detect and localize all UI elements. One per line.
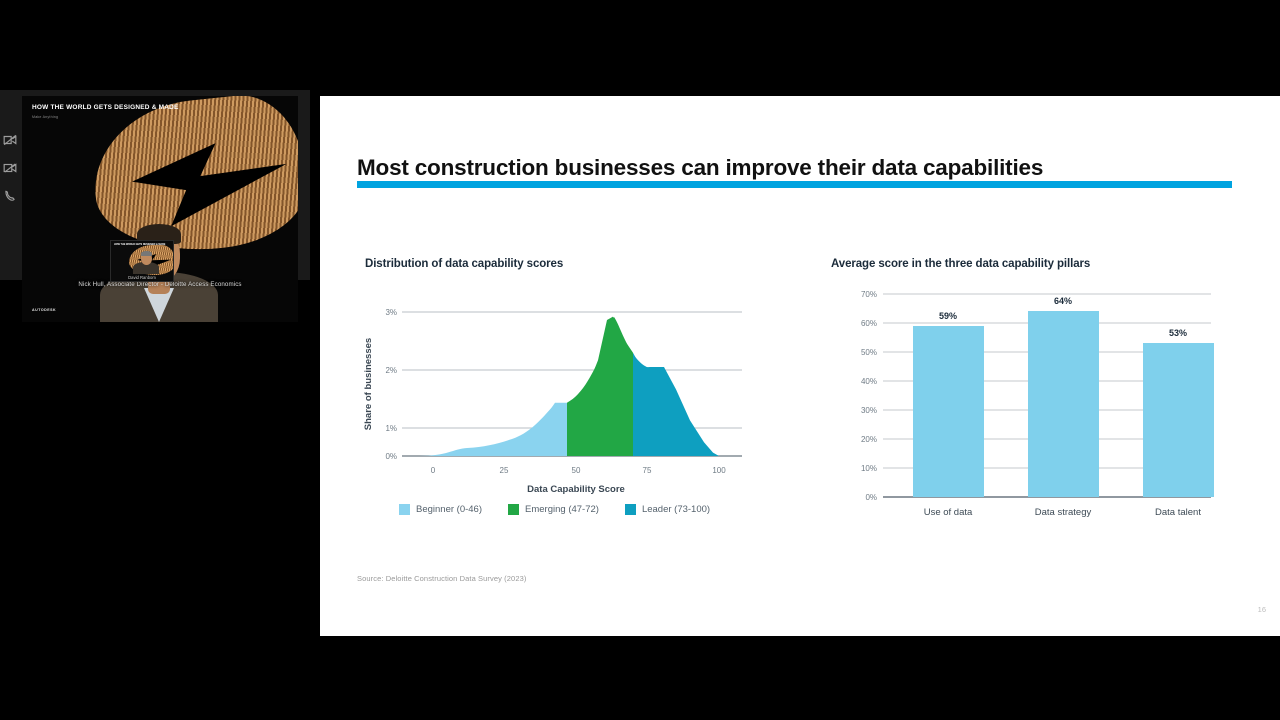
thumbnail-kicker: HOW THE WORLD GETS DESIGNED & MADE xyxy=(114,243,165,246)
left-chart-plot: 3% 2% 1% 0% Share of businesses 0 xyxy=(357,284,757,500)
y-tick-0: 0% xyxy=(865,493,877,502)
autodesk-logo: AUTODESK xyxy=(32,308,56,312)
legend-swatch-beginner xyxy=(399,504,410,515)
value-label-data-strategy: 64% xyxy=(1054,296,1072,306)
x-tick-75: 75 xyxy=(643,466,652,475)
participant-thumbnail[interactable]: HOW THE WORLD GETS DESIGNED & MADE David… xyxy=(110,240,174,282)
right-chart-category-labels: Use of data Data strategy Data talent xyxy=(924,507,1202,518)
left-chart-x-axis-title: Data Capability Score xyxy=(527,484,625,495)
bar-use-of-data[interactable] xyxy=(913,326,984,497)
left-chart-title: Distribution of data capability scores xyxy=(365,258,563,270)
y-tick-2: 2% xyxy=(385,366,397,375)
left-chart-y-ticks: 3% 2% 1% 0% xyxy=(385,308,397,461)
left-chart-legend: Beginner (0-46) Emerging (47-72) Leader … xyxy=(399,504,710,515)
y-tick-40: 40% xyxy=(861,377,877,386)
legend-item-emerging[interactable]: Emerging (47-72) xyxy=(508,504,599,515)
y-tick-3: 3% xyxy=(385,308,397,317)
right-chart-bars xyxy=(913,311,1214,497)
right-chart-plot: 70% 60% 50% 40% 30% 20% 10% 0% 59% 64% 5… xyxy=(825,284,1225,524)
left-chart-y-axis-title: Share of businesses xyxy=(363,338,374,430)
legend-label-emerging: Emerging (47-72) xyxy=(525,504,599,515)
shared-screen-video[interactable]: HOW THE WORLD GETS DESIGNED & MADE Make … xyxy=(22,96,298,322)
chart-distribution-of-data-capability-scores: Distribution of data capability scores 3… xyxy=(357,258,757,538)
speaker-name-caption: Nick Hull, Associate Director - Deloitte… xyxy=(22,281,298,288)
video-conference-panel: HOW THE WORLD GETS DESIGNED & MADE Make … xyxy=(0,90,310,280)
video-off-icon[interactable] xyxy=(3,161,17,175)
y-tick-30: 30% xyxy=(861,406,877,415)
heading-accent-rule xyxy=(357,181,1232,188)
legend-label-beginner: Beginner (0-46) xyxy=(416,504,482,515)
y-tick-60: 60% xyxy=(861,319,877,328)
source-note: Source: Deloitte Construction Data Surve… xyxy=(357,574,526,583)
bar-data-talent[interactable] xyxy=(1143,343,1214,497)
right-chart-y-ticks: 70% 60% 50% 40% 30% 20% 10% 0% xyxy=(861,290,877,502)
x-tick-50: 50 xyxy=(572,466,581,475)
shared-slide-title-block: HOW THE WORLD GETS DESIGNED & MADE Make … xyxy=(32,104,179,119)
value-label-data-talent: 53% xyxy=(1169,328,1187,338)
legend-label-leader: Leader (73-100) xyxy=(642,504,710,515)
thumbnail-name-caption: David Ranbom xyxy=(111,275,173,280)
shared-slide-kicker: HOW THE WORLD GETS DESIGNED & MADE xyxy=(32,104,179,112)
y-tick-70: 70% xyxy=(861,290,877,299)
camera-off-icon[interactable] xyxy=(3,133,17,147)
value-label-use-of-data: 59% xyxy=(939,311,957,321)
call-controls-toolbar xyxy=(0,125,20,253)
page-title: Most construction businesses can improve… xyxy=(357,155,1043,181)
shared-slide-subtitle: Make Anything xyxy=(32,115,179,119)
category-label-use-of-data: Use of data xyxy=(924,507,973,518)
y-tick-0: 0% xyxy=(385,452,397,461)
y-tick-50: 50% xyxy=(861,348,877,357)
x-tick-0: 0 xyxy=(431,466,436,475)
legend-swatch-emerging xyxy=(508,504,519,515)
legend-item-beginner[interactable]: Beginner (0-46) xyxy=(399,504,482,515)
bar-data-strategy[interactable] xyxy=(1028,311,1099,497)
y-tick-20: 20% xyxy=(861,435,877,444)
right-chart-title: Average score in the three data capabili… xyxy=(831,258,1090,270)
x-tick-100: 100 xyxy=(712,466,726,475)
thumbnail-avatar xyxy=(133,248,159,274)
left-chart-x-ticks: 0 25 50 75 100 xyxy=(431,466,726,475)
legend-swatch-leader xyxy=(625,504,636,515)
category-label-data-strategy: Data strategy xyxy=(1035,507,1092,518)
y-tick-10: 10% xyxy=(861,464,877,473)
x-tick-25: 25 xyxy=(500,466,509,475)
category-label-data-talent: Data talent xyxy=(1155,507,1201,518)
y-tick-1: 1% xyxy=(385,424,397,433)
presentation-slide: Most construction businesses can improve… xyxy=(320,96,1280,636)
hangup-icon[interactable] xyxy=(3,189,17,203)
page-number: 16 xyxy=(1258,605,1266,614)
legend-item-leader[interactable]: Leader (73-100) xyxy=(625,504,710,515)
chart-average-score-three-pillars: Average score in the three data capabili… xyxy=(825,258,1245,538)
